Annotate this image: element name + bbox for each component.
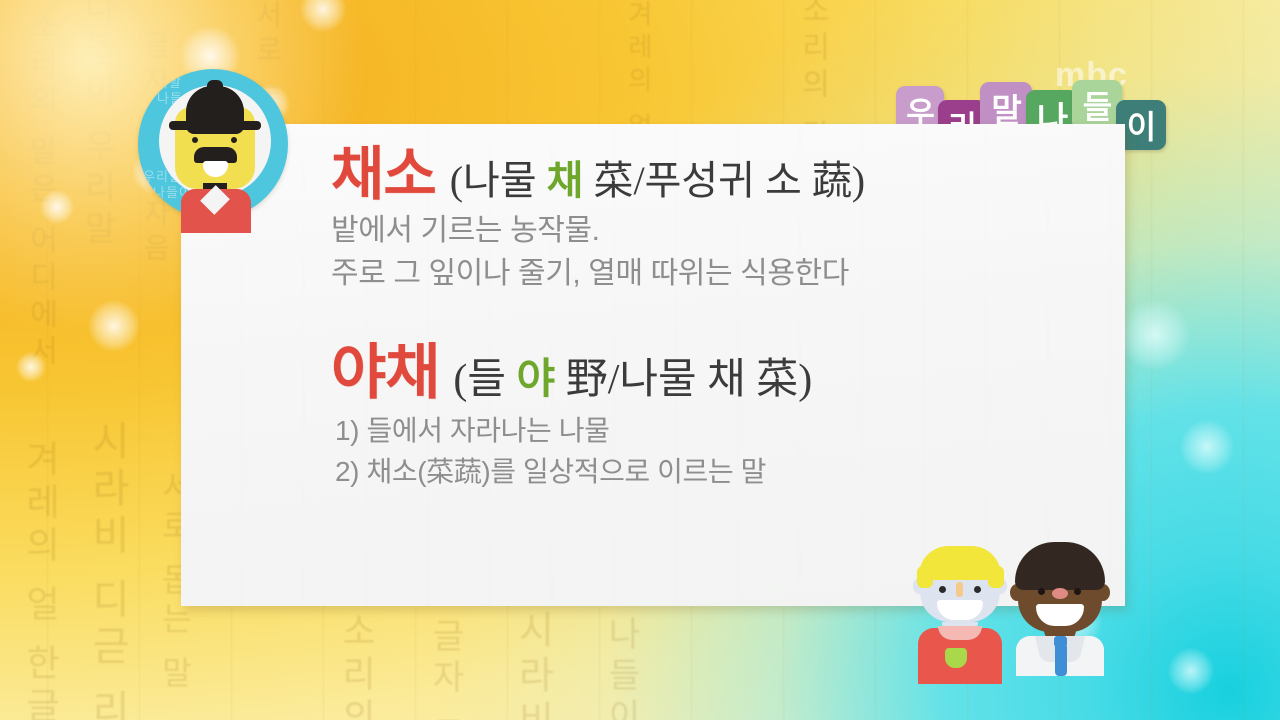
scholar-avatar-badge: 우리말 나들이 우리말 나들이: [138, 69, 288, 219]
description-line: 밭에서 기르는 농작물.: [331, 210, 1115, 253]
hanja-gloss-accent: 야: [517, 357, 556, 403]
blonde-kid-hair: [919, 546, 1001, 580]
hanja-gloss-rest: 野/나물 채 菜): [555, 357, 812, 403]
blonde-kid-nose: [956, 582, 963, 597]
scholar-eye-left: [192, 137, 198, 143]
scholar-character: [159, 85, 271, 215]
hanja-gloss-rest: 菜/푸성귀 소 蔬): [583, 158, 865, 203]
blonde-kid-shirt-badge: [945, 648, 967, 668]
blonde-kid-eye-left: [939, 586, 946, 593]
entry-heading: 채소 (나물 채 菜/푸성귀 소 蔬): [331, 146, 1115, 204]
dictionary-entry: 야채 (들 야 野/나물 채 菜) 1) 들에서 자라나는 나물 2) 채소(菜…: [331, 343, 1115, 493]
hanja-gloss-accent: 채: [547, 158, 584, 203]
kid-characters: [912, 530, 1132, 670]
entry-numbered-list: 1) 들에서 자라나는 나물 2) 채소(菜蔬)를 일상적으로 이르는 말: [331, 411, 1115, 493]
entry-description: 밭에서 기르는 농작물. 주로 그 잎이나 줄기, 열매 따위는 식용한다: [331, 210, 1115, 295]
scholar-eye-right: [231, 137, 237, 143]
dark-kid-necktie: [1055, 645, 1067, 676]
blonde-kid-eye-right: [974, 586, 981, 593]
numbered-item: 1) 들에서 자라나는 나물: [335, 411, 1115, 452]
scholar-topknot: [207, 80, 223, 92]
entry-heading: 야채 (들 야 野/나물 채 菜): [331, 343, 1115, 403]
broadcast-screen: 소리의 말은 어디에서 나들이 우리말 글자 모음 자음 겨레의 얼 한글 시라…: [0, 0, 1280, 720]
dictionary-entry: 채소 (나물 채 菜/푸성귀 소 蔬) 밭에서 기르는 농작물. 주로 그 잎이…: [331, 146, 1115, 295]
hanja-gloss-open: (들: [453, 357, 516, 403]
entry-hanja-gloss: (들 야 野/나물 채 菜): [453, 359, 812, 401]
numbered-item: 2) 채소(菜蔬)를 일상적으로 이르는 말: [335, 452, 1115, 493]
dark-kid-character: [1008, 536, 1112, 670]
dark-kid-eye-left: [1038, 588, 1045, 595]
scholar-gat-hat-brim: [169, 121, 261, 130]
entry-hanja-gloss: (나물 채 菜/푸성귀 소 蔬): [450, 161, 865, 201]
dark-kid-hair: [1015, 542, 1105, 590]
dark-kid-nose: [1052, 588, 1068, 599]
blonde-kid-character: [912, 542, 1008, 670]
dark-kid-eye-right: [1074, 588, 1081, 595]
description-line: 주로 그 잎이나 줄기, 열매 따위는 식용한다: [331, 253, 1115, 296]
entry-headword: 야채: [331, 343, 439, 403]
hanja-gloss-open: (나물: [450, 158, 547, 203]
logo-tile-5: 들: [1072, 80, 1122, 130]
definition-card-content: 채소 (나물 채 菜/푸성귀 소 蔬) 밭에서 기르는 농작물. 주로 그 잎이…: [331, 146, 1115, 493]
entry-headword: 채소: [331, 146, 436, 204]
